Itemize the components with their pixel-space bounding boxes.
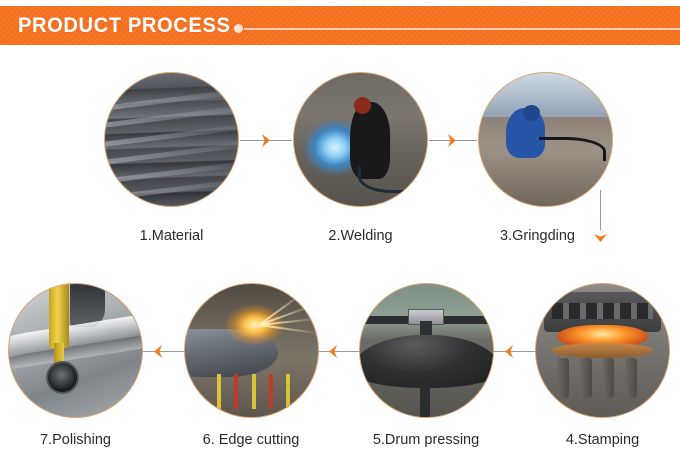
photo-gringding: [479, 73, 612, 206]
photo-drum-pressing: [360, 284, 493, 417]
step-label-edge-cutting: 6. Edge cutting: [176, 432, 326, 449]
step-image-edge-cutting: [184, 283, 319, 418]
connector-line-3-4: [600, 190, 601, 230]
page-title: PRODUCT PROCESS: [18, 14, 231, 37]
header-rule: [244, 28, 680, 30]
step-image-polishing: [8, 283, 143, 418]
step-label-welding: 2.Welding: [293, 228, 428, 245]
step-image-gringding: [478, 72, 613, 207]
photo-polishing: [9, 284, 142, 417]
step-label-drum-pressing: 5.Drum pressing: [351, 432, 501, 449]
header-bar: PRODUCT PROCESS: [0, 6, 680, 45]
photo-material: [105, 73, 238, 206]
step-label-material: 1.Material: [104, 228, 239, 245]
step-label-stamping: 4.Stamping: [535, 432, 670, 449]
header-bullet-dot: [234, 24, 243, 33]
step-label-polishing: 7.Polishing: [8, 432, 143, 449]
photo-edge-cutting: [185, 284, 318, 417]
photo-welding: [294, 73, 427, 206]
step-label-gringding: 3.Gringding: [470, 228, 605, 245]
step-image-material: [104, 72, 239, 207]
step-image-stamping: [535, 283, 670, 418]
photo-stamping: [536, 284, 669, 417]
step-image-drum-pressing: [359, 283, 494, 418]
step-image-welding: [293, 72, 428, 207]
